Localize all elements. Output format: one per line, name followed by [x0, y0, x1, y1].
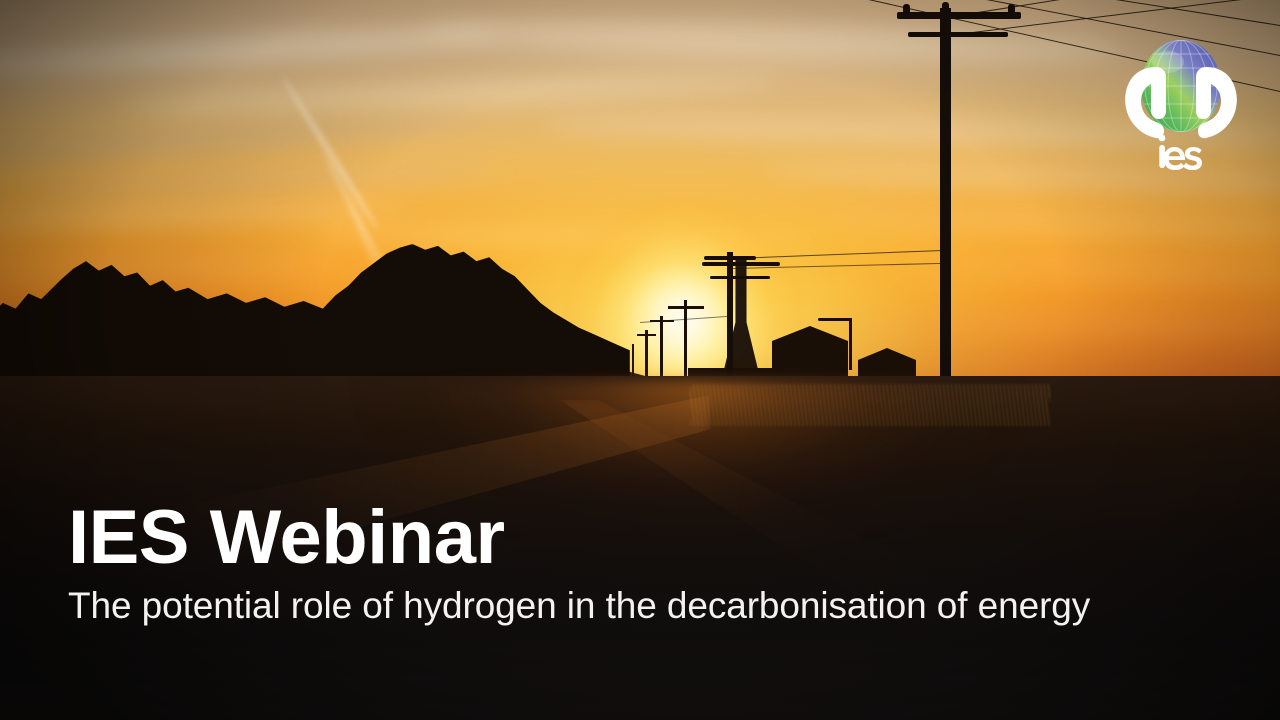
slide-canvas: IES Webinar The potential role of hydrog… — [0, 0, 1280, 720]
ies-logo[interactable] — [1122, 30, 1240, 170]
title-block: IES Webinar The potential role of hydrog… — [68, 500, 1248, 628]
page-subtitle: The potential role of hydrogen in the de… — [68, 584, 1248, 628]
ies-wordmark — [1159, 135, 1202, 170]
page-title: IES Webinar — [68, 500, 1248, 576]
